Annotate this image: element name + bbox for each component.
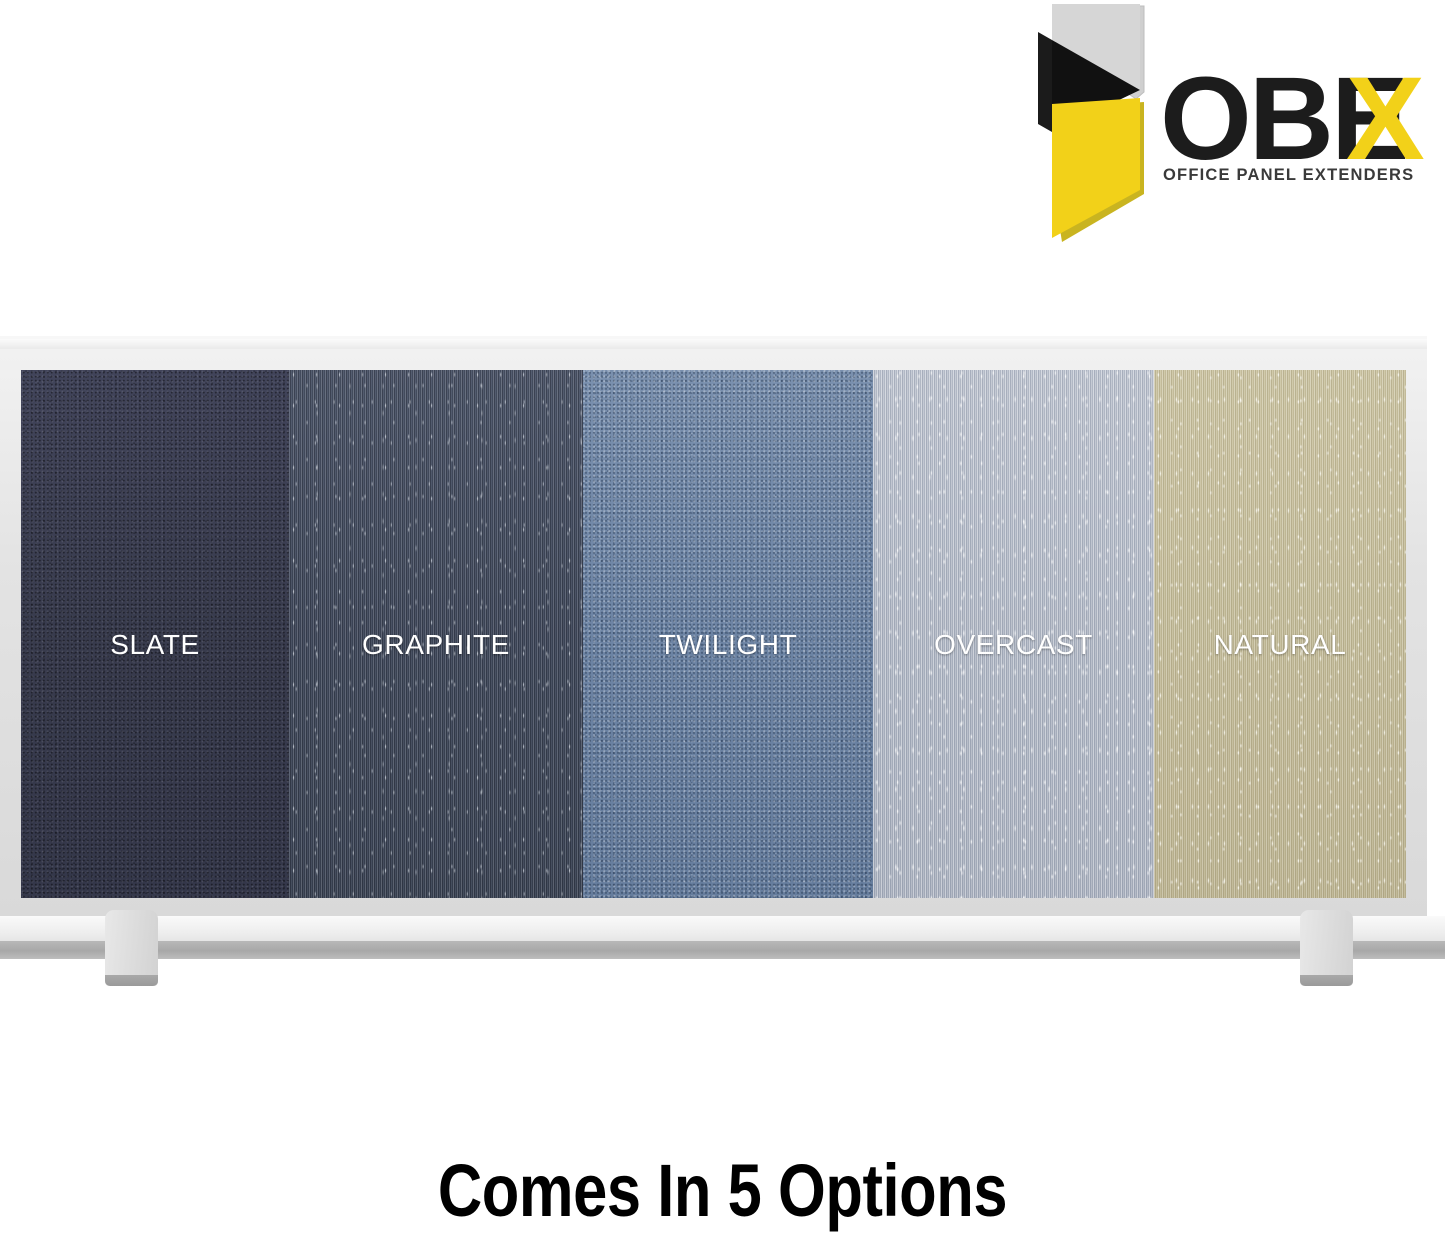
wordmark-x: X bbox=[1346, 60, 1425, 178]
frame-top-highlight bbox=[0, 339, 1427, 349]
swatch-overcast[interactable]: OVERCAST bbox=[873, 370, 1154, 898]
swatch-natural[interactable]: NATURAL bbox=[1154, 370, 1406, 898]
fabric-swatch-strip: SLATE GRAPHITE TWILIGHT OVERCAST NATURAL bbox=[21, 370, 1406, 898]
logo-tagline: OFFICE PANEL EXTENDERS bbox=[1163, 166, 1414, 185]
panel-bottom-rail bbox=[0, 916, 1445, 941]
obex-logo: OBE X OFFICE PANEL EXTENDERS bbox=[1032, 4, 1432, 249]
swatch-label-overcast: OVERCAST bbox=[873, 629, 1154, 661]
caption-text: Comes In 5 Options bbox=[123, 1148, 1322, 1233]
swatch-slate[interactable]: SLATE bbox=[21, 370, 289, 898]
panel-frame: SLATE GRAPHITE TWILIGHT OVERCAST NATURAL bbox=[0, 336, 1427, 916]
panel-foot-left bbox=[105, 910, 158, 986]
swatch-graphite[interactable]: GRAPHITE bbox=[289, 370, 583, 898]
obex-chevron-mark-icon bbox=[1032, 4, 1162, 244]
swatch-twilight[interactable]: TWILIGHT bbox=[583, 370, 873, 898]
swatch-label-natural: NATURAL bbox=[1154, 629, 1406, 661]
swatch-label-graphite: GRAPHITE bbox=[289, 629, 583, 661]
swatch-label-twilight: TWILIGHT bbox=[583, 629, 873, 661]
swatch-label-slate: SLATE bbox=[21, 629, 289, 661]
obex-wordmark: OBE X OFFICE PANEL EXTENDERS bbox=[1160, 52, 1432, 202]
panel-bottom-rail-shadow bbox=[0, 941, 1445, 959]
panel-extender-product: SLATE GRAPHITE TWILIGHT OVERCAST NATURAL bbox=[0, 330, 1430, 990]
panel-foot-right bbox=[1300, 910, 1353, 986]
